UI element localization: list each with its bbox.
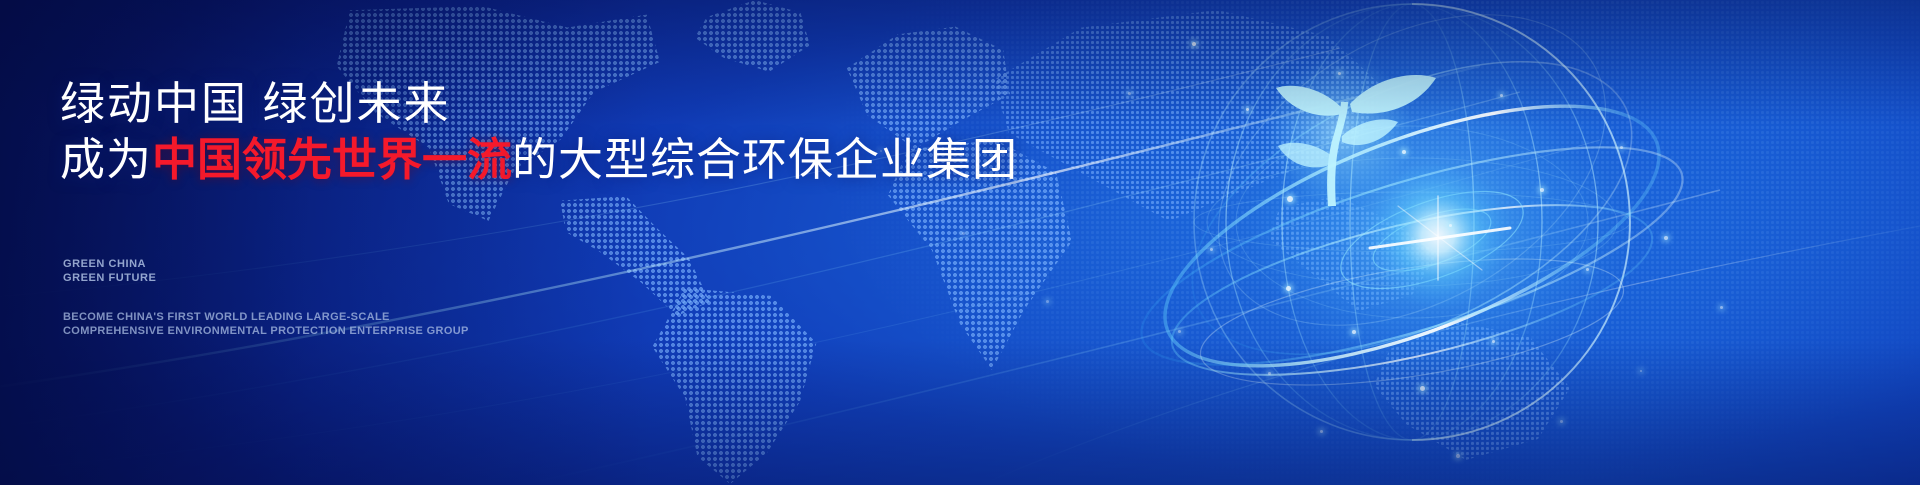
banner-copy: 绿动中国 绿创未来 成为中国领先世界一流的大型综合环保企业集团 GREEN CH… — [60, 0, 1060, 485]
headline-line-2: 成为中国领先世界一流的大型综合环保企业集团 — [60, 132, 1018, 188]
hero-banner: 绿动中国 绿创未来 成为中国领先世界一流的大型综合环保企业集团 GREEN CH… — [0, 0, 1920, 485]
headline-line-2-prefix: 成为 — [60, 134, 152, 185]
tagline-group: BECOME CHINA'S FIRST WORLD LEADING LARGE… — [63, 311, 469, 338]
subtitle-line-2: GREEN FUTURE — [63, 272, 156, 286]
headline-line-2-suffix: 的大型综合环保企业集团 — [512, 134, 1018, 185]
headline-line-1: 绿动中国 绿创未来 — [60, 76, 1018, 132]
tagline-line-1: BECOME CHINA'S FIRST WORLD LEADING LARGE… — [63, 311, 469, 325]
subtitle-group: GREEN CHINA GREEN FUTURE — [63, 258, 156, 285]
tagline-line-2: COMPREHENSIVE ENVIRONMENTAL PROTECTION E… — [63, 325, 469, 339]
headline-group: 绿动中国 绿创未来 成为中国领先世界一流的大型综合环保企业集团 — [60, 76, 1018, 188]
subtitle-line-1: GREEN CHINA — [63, 258, 156, 272]
headline-line-2-highlight: 中国领先世界一流 — [152, 134, 512, 185]
